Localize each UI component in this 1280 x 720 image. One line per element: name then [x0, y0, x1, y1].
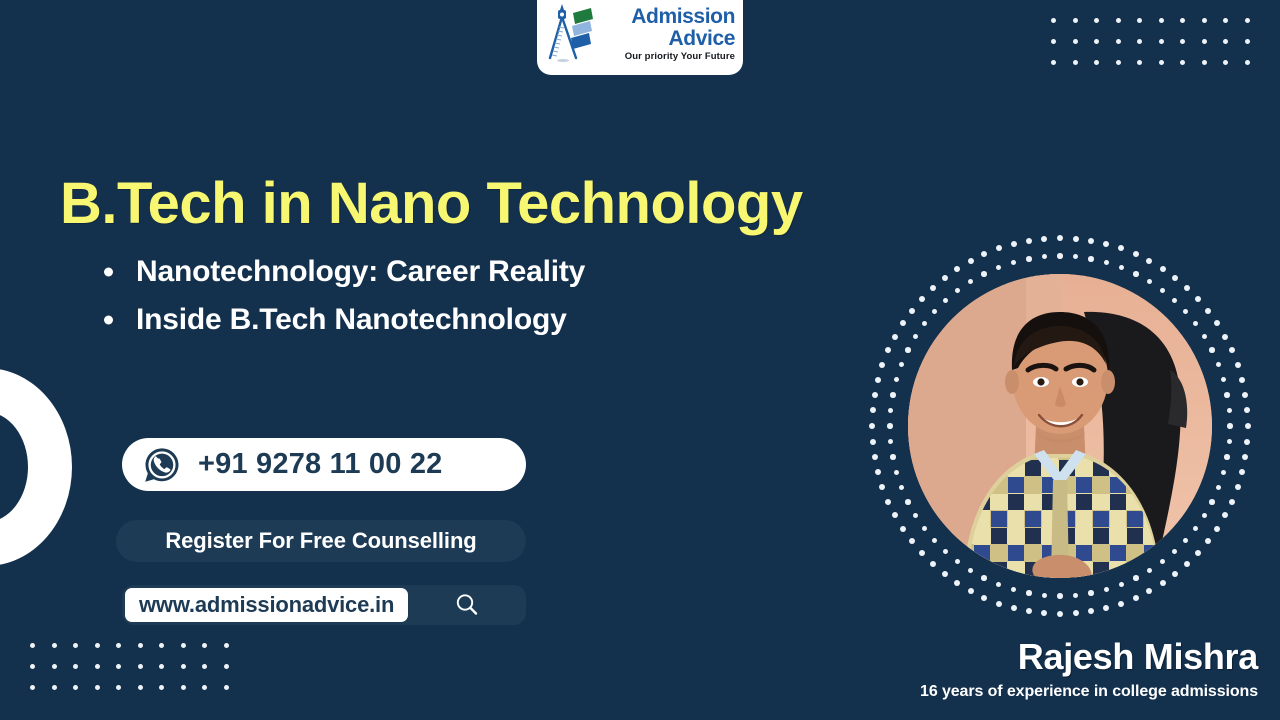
portrait-ring-dot [1042, 593, 1048, 599]
portrait-ring-dot [1088, 590, 1094, 596]
dot-grid-bottom-left [22, 635, 237, 698]
portrait-ring-dot [1209, 347, 1215, 353]
portrait-ring-dot [1209, 499, 1215, 505]
decorative-dot [1159, 18, 1164, 23]
portrait-ring-dot [1147, 279, 1153, 285]
portrait-ring-dot [1216, 485, 1222, 491]
register-button[interactable]: Register For Free Counselling [116, 520, 526, 562]
decorative-dot [1245, 39, 1250, 44]
portrait-ring-dot [943, 549, 949, 555]
decorative-dot [1202, 18, 1207, 23]
portrait-ring-dot [888, 408, 894, 414]
portrait-ring-dot [1057, 593, 1063, 599]
topic-list: Nanotechnology: Career Reality Inside B.… [100, 248, 585, 344]
website-url-field[interactable]: www.admissionadvice.in [125, 588, 408, 622]
decorative-dot [159, 664, 164, 669]
portrait-ring-dot [899, 362, 905, 368]
portrait-ring-dot [1011, 587, 1017, 593]
decorative-dot [224, 685, 229, 690]
decorative-dot [30, 664, 35, 669]
portrait-ring-dot [1088, 256, 1094, 262]
portrait-ring-dot [1193, 321, 1199, 327]
phone-contact-pill[interactable]: +91 9278 11 00 22 [122, 438, 526, 491]
portrait-ring-dot [1216, 362, 1222, 368]
portrait-ring-dot [996, 582, 1002, 588]
website-search-bar[interactable]: www.admissionadvice.in [122, 585, 526, 625]
portrait-ring-dot [922, 526, 928, 532]
decorative-dot [224, 643, 229, 648]
decorative-dot [1073, 60, 1078, 65]
logo-word-advice: Advice [669, 28, 735, 49]
decorative-dot [1094, 18, 1099, 23]
decorative-dot [1245, 60, 1250, 65]
decorative-dot [1137, 60, 1142, 65]
portrait-ring-dot [1202, 334, 1208, 340]
decorative-dot [52, 664, 57, 669]
portrait-ring-dot [1221, 377, 1227, 383]
decorative-dot [202, 685, 207, 690]
decorative-dot [1137, 18, 1142, 23]
portrait-ring-dot [968, 279, 974, 285]
phone-number: +91 9278 11 00 22 [198, 448, 443, 481]
portrait-ring-dot [1224, 454, 1230, 460]
portrait-ring-dot [888, 439, 894, 445]
portrait-ring-dot [955, 559, 961, 565]
portrait-ring-dot [1026, 256, 1032, 262]
decorative-dot [73, 664, 78, 669]
portrait-ring-dot [890, 454, 896, 460]
decorative-dot [138, 643, 143, 648]
logo-word-admission: Admission [631, 6, 735, 27]
portrait-photo [908, 274, 1212, 578]
search-icon[interactable] [408, 592, 526, 618]
portrait-ring-dot [1227, 423, 1233, 429]
decorative-dot [30, 643, 35, 648]
decorative-dot [1245, 18, 1250, 23]
decorative-dot [1116, 39, 1121, 44]
decorative-dot [1073, 18, 1078, 23]
portrait-ring-dot [905, 499, 911, 505]
decorative-dot [202, 643, 207, 648]
portrait-ring-dot [1073, 593, 1079, 599]
decorative-dot [1223, 18, 1228, 23]
portrait-ring-dot [890, 392, 896, 398]
portrait-ring-dot [1042, 254, 1048, 260]
portrait-ring-dot [1160, 559, 1166, 565]
decorative-dot [1137, 39, 1142, 44]
portrait-ring-dot [1193, 526, 1199, 532]
whatsapp-icon [142, 445, 182, 485]
decorative-dot [1180, 60, 1185, 65]
portrait-ring-dot [1183, 309, 1189, 315]
register-button-label: Register For Free Counselling [165, 528, 476, 554]
portrait-ring-dot [1172, 549, 1178, 555]
portrait-ring-dot [913, 334, 919, 340]
decorative-dot [202, 664, 207, 669]
portrait-ring-dot [1104, 587, 1110, 593]
page-title: B.Tech in Nano Technology [60, 170, 803, 237]
decorative-dot [138, 685, 143, 690]
decorative-dot [1094, 60, 1099, 65]
decorative-dot [181, 685, 186, 690]
decorative-dot [224, 664, 229, 669]
portrait-ring-dot [981, 271, 987, 277]
decorative-dot [1202, 39, 1207, 44]
decorative-dot [52, 685, 57, 690]
decorative-dot [116, 685, 121, 690]
decorative-dot [1073, 39, 1078, 44]
portrait-ring-dot [1172, 298, 1178, 304]
decorative-dot [1223, 39, 1228, 44]
logo-wordmark: Admission Advice Our priority Your Futur… [600, 6, 735, 62]
decorative-dot [1159, 39, 1164, 44]
compass-divider-icon [543, 3, 597, 65]
decorative-dot [116, 664, 121, 669]
decorative-dot [95, 685, 100, 690]
decorative-dot [52, 643, 57, 648]
presenter-name: Rajesh Mishra [1018, 636, 1258, 678]
portrait-ring-dot [1227, 439, 1233, 445]
portrait-ring-dot [1026, 590, 1032, 596]
list-item: Nanotechnology: Career Reality [100, 248, 585, 296]
portrait-ring-dot [887, 423, 893, 429]
portrait-ring-dot [1133, 271, 1139, 277]
portrait-ring-dot [1147, 568, 1153, 574]
dot-grid-top-right [1043, 10, 1258, 73]
portrait-ring-dot [1119, 582, 1125, 588]
decorative-dot [1202, 60, 1207, 65]
portrait-ring-dot [905, 347, 911, 353]
presenter-portrait [862, 228, 1258, 624]
portrait-ring-dot [894, 470, 900, 476]
portrait-ring-dot [1224, 392, 1230, 398]
list-item: Inside B.Tech Nanotechnology [100, 296, 585, 344]
portrait-ring-dot [996, 265, 1002, 271]
decorative-dot [1051, 60, 1056, 65]
portrait-ring-dot [1221, 470, 1227, 476]
decorative-dot [1116, 60, 1121, 65]
portrait-ring-dot [922, 321, 928, 327]
portrait-ring-dot [1160, 288, 1166, 294]
portrait-ring-dot [913, 513, 919, 519]
promo-banner: Admission Advice Our priority Your Futur… [0, 0, 1280, 720]
decorative-dot [159, 643, 164, 648]
presenter-subtitle: 16 years of experience in college admiss… [920, 683, 1258, 701]
decorative-dot [1051, 18, 1056, 23]
portrait-ring-dot [943, 298, 949, 304]
portrait-ring-dot [1119, 265, 1125, 271]
portrait-ring-dot [1104, 260, 1110, 266]
portrait-ring-dot [1011, 260, 1017, 266]
decorative-dot [138, 664, 143, 669]
portrait-ring-dot [1227, 408, 1233, 414]
portrait-ring-dot [968, 568, 974, 574]
decorative-dot [1051, 39, 1056, 44]
portrait-ring-dot [955, 288, 961, 294]
decorative-dot [181, 664, 186, 669]
website-url: www.admissionadvice.in [139, 592, 394, 618]
portrait-ring-dot [932, 309, 938, 315]
portrait-ring-dot [981, 575, 987, 581]
portrait-ring-dot [894, 377, 900, 383]
decorative-dot [116, 643, 121, 648]
logo-inner: Admission Advice Our priority Your Futur… [543, 0, 735, 69]
portrait-ring-dot [899, 485, 905, 491]
logo-tagline: Our priority Your Future [625, 52, 735, 62]
portrait-ring-dot [1183, 538, 1189, 544]
portrait-ring-dot [1133, 575, 1139, 581]
decorative-dot [73, 685, 78, 690]
logo-card: Admission Advice Our priority Your Futur… [537, 0, 743, 75]
decorative-dot [181, 643, 186, 648]
decorative-dot [95, 664, 100, 669]
decorative-dot [1223, 60, 1228, 65]
portrait-ring-dot [1073, 254, 1079, 260]
portrait-ring-dot [1057, 253, 1063, 259]
decorative-dot [95, 643, 100, 648]
decorative-dot [1180, 18, 1185, 23]
portrait-ring-dot [932, 538, 938, 544]
decorative-dot [1094, 39, 1099, 44]
decorative-dot [1159, 60, 1164, 65]
decorative-ring [0, 368, 72, 566]
decorative-dot [73, 643, 78, 648]
decorative-dot [30, 685, 35, 690]
decorative-dot [1116, 18, 1121, 23]
decorative-dot [1180, 39, 1185, 44]
portrait-ring-dot [1202, 513, 1208, 519]
decorative-dot [159, 685, 164, 690]
